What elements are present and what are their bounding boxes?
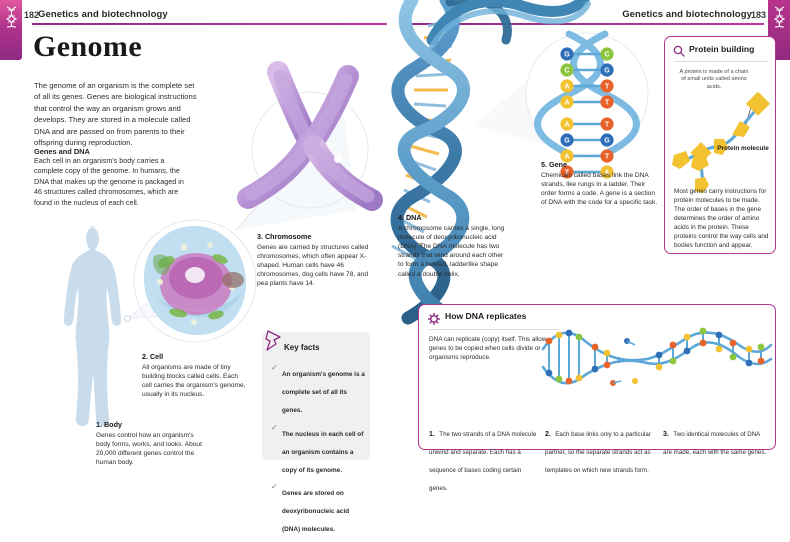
dna-helix-icon (773, 6, 786, 28)
callout-title: 2. Cell (142, 352, 247, 361)
protein-building-panel: Protein building A protein is made of a … (664, 36, 776, 254)
callout-text: Genes control how an organism's body for… (96, 431, 206, 468)
base-letter: T (605, 100, 610, 107)
base-letter: G (564, 138, 570, 145)
panel-divider (674, 61, 768, 62)
callout-text: All organisms are made of tiny building … (142, 363, 247, 400)
intro-paragraph: The genome of an organism is the complet… (34, 80, 199, 148)
page-number-left: 182 (24, 10, 39, 20)
subsection-heading: Genes and DNA (34, 147, 90, 156)
callout-dna: 4. DNA A chromosome carries a single, lo… (398, 213, 510, 279)
panel-heading: How DNA replicates (445, 311, 526, 321)
dna-replication-diagram (543, 323, 771, 423)
replication-step-3: 3. Two identical molecules of DNA are ma… (663, 423, 769, 459)
base-letter: A (564, 84, 569, 91)
callout-text: Genes are carried by structures called c… (257, 243, 375, 289)
key-fact-item: ✓Genes are stored on deoxyribonucleic ac… (271, 482, 366, 536)
callout-cell: 2. Cell All organisms are made of tiny b… (142, 352, 247, 399)
protein-diagram-caption: A protein is made of a chain of small un… (677, 69, 751, 91)
callout-body: 1. Body Genes control how an organism's … (96, 420, 206, 467)
key-facts-heading: Key facts (284, 343, 320, 352)
subsection-body: Each cell in an organism's body carries … (34, 156, 184, 208)
base-letter: G (564, 52, 570, 59)
page-tab-left (0, 0, 22, 60)
magnifier-icon (673, 45, 685, 57)
key-facts-list: ✓An organism's genome is a complete set … (271, 363, 366, 542)
step-text: The two strands of a DNA molecule unwind… (429, 431, 536, 492)
callout-text: A chromosome carries a single, long mole… (398, 224, 510, 279)
step-number: 1. (429, 431, 435, 438)
protein-molecule-label: Protein molecule (717, 145, 769, 153)
callout-title: 4. DNA (398, 213, 510, 222)
dna-replication-panel: How DNA replicates DNA can replicate (co… (418, 304, 776, 450)
step-number: 3. (663, 431, 669, 438)
pushpin-icon (264, 328, 286, 354)
callout-gene: 5. Gene Chemicals called bases link the … (541, 160, 661, 207)
base-letter: A (564, 122, 569, 129)
key-fact-text: The nucleus in each cell of an organism … (282, 431, 363, 474)
base-letter: A (564, 100, 569, 107)
panel-heading: Protein building (689, 44, 754, 54)
panel-divider (429, 329, 559, 330)
replication-step-1: 1. The two strands of a DNA molecule unw… (429, 423, 537, 495)
base-letter: T (605, 122, 610, 129)
check-icon: ✓ (271, 363, 278, 372)
step-text: Each base links only to a particular par… (545, 431, 651, 474)
key-fact-text: Genes are stored on deoxyribonucleic aci… (282, 490, 349, 533)
book-spread: 182 Genetics and biotechnology 183 Genet… (0, 0, 790, 490)
callout-chromosome: 3. Chromosome Genes are carried by struc… (257, 232, 375, 289)
protein-panel-body: Most genes carry instructions for protei… (674, 187, 769, 250)
page-title: Genome (33, 30, 142, 64)
check-icon: ✓ (271, 423, 278, 432)
callout-title: 1. Body (96, 420, 206, 429)
step-number: 2. (545, 431, 551, 438)
base-letter: C (564, 68, 569, 75)
base-letter: G (604, 68, 610, 75)
replication-step-2: 2. Each base links only to a particular … (545, 423, 655, 477)
page-number-right: 183 (751, 10, 766, 20)
replication-intro: DNA can replicate (copy) itself. This al… (429, 335, 554, 362)
key-fact-item: ✓The nucleus in each cell of an organism… (271, 423, 366, 477)
gear-icon (428, 313, 440, 325)
running-head-right: Genetics and biotechnology (622, 9, 752, 20)
key-fact-item: ✓An organism's genome is a complete set … (271, 363, 366, 417)
gene-detail-circle: GCCGATATATGGATTA (523, 28, 651, 160)
dna-helix-icon (5, 6, 18, 28)
key-fact-text: An organism's genome is a complete set o… (282, 371, 365, 414)
callout-title: 3. Chromosome (257, 232, 375, 241)
base-letter: G (604, 138, 610, 145)
base-letter: C (604, 52, 609, 59)
base-letter: T (605, 84, 610, 91)
key-facts-box: Key facts ✓An organism's genome is a com… (262, 332, 370, 460)
running-head-left: Genetics and biotechnology (38, 9, 168, 20)
callout-text: Chemicals called bases link the DNA stra… (541, 171, 661, 208)
leader-dot-body (124, 315, 131, 322)
step-text: Two identical molecules of DNA are made,… (663, 431, 766, 456)
callout-title: 5. Gene (541, 160, 661, 169)
